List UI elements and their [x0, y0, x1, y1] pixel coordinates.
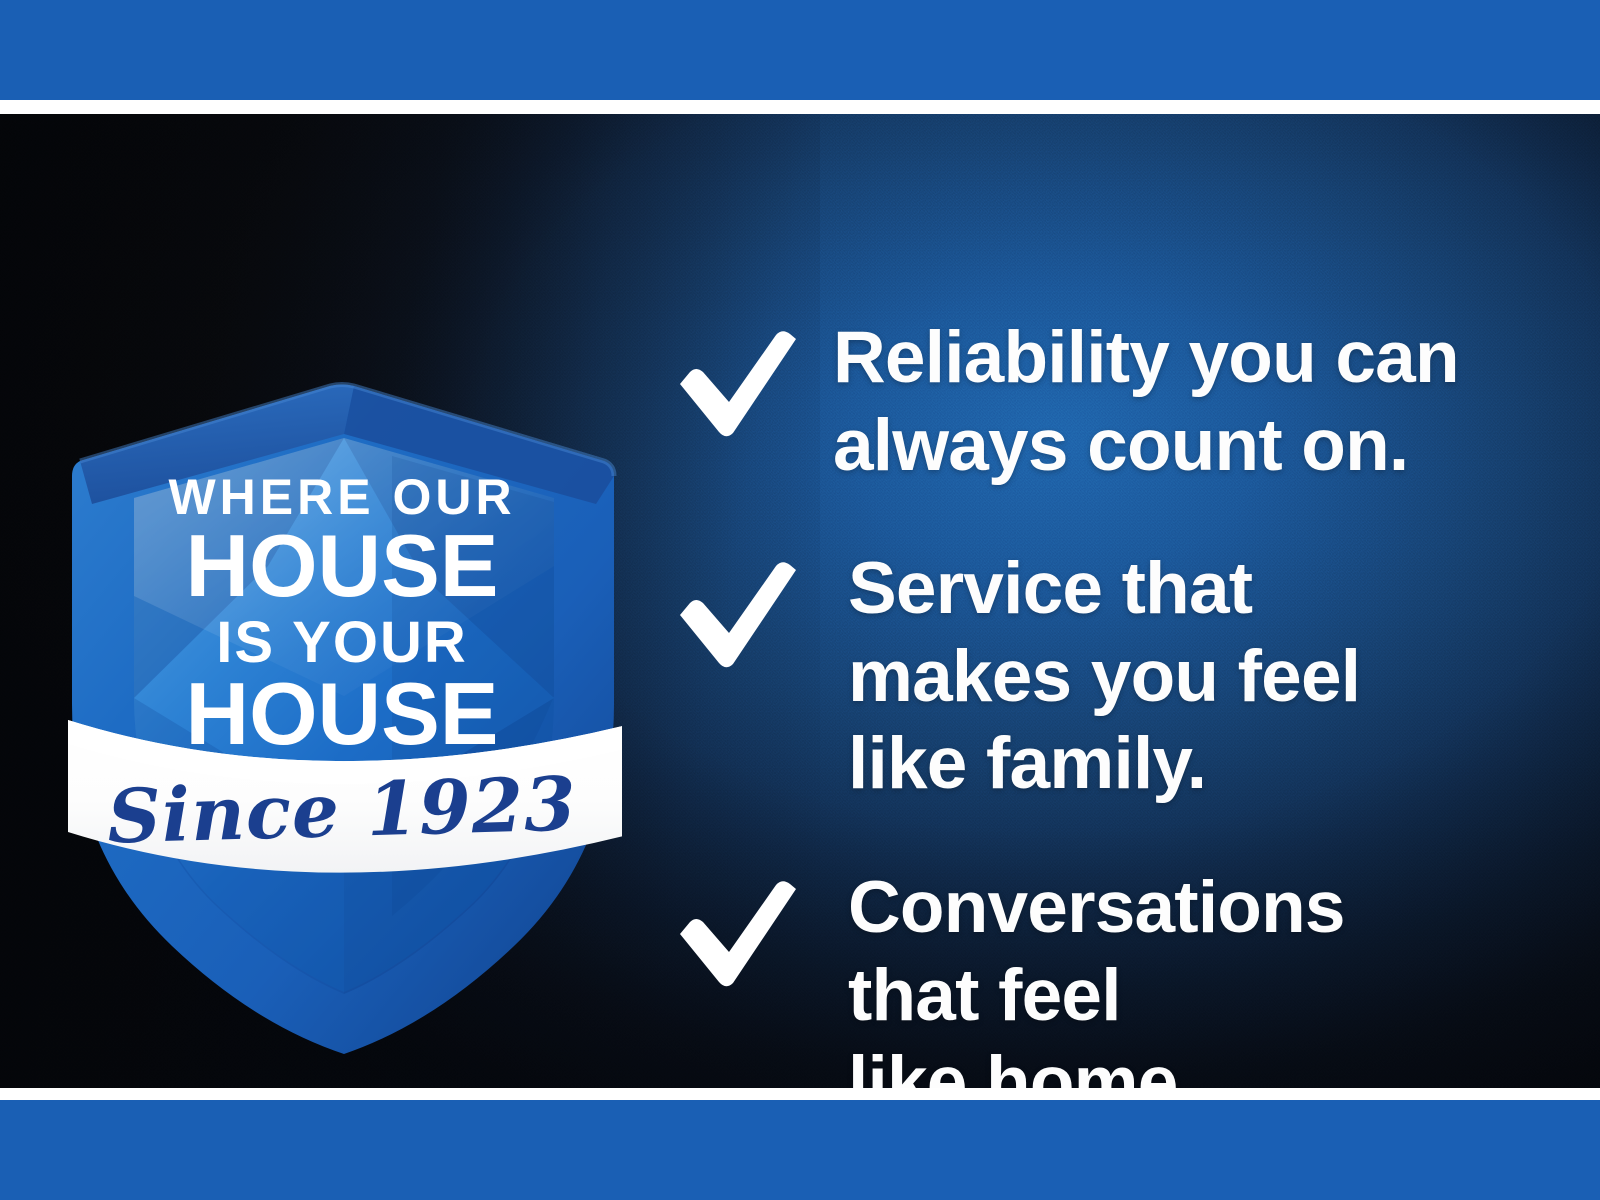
shield-icon — [62, 266, 622, 1056]
list-item: Service that makes you feel like family. — [672, 545, 1552, 808]
promo-banner: Where Our House Is Your House Since 1923… — [0, 0, 1600, 1200]
benefits-list: Reliability you can always count on. Ser… — [672, 314, 1552, 1088]
list-item: Conversations that feel like home. — [672, 864, 1552, 1088]
top-brand-bar — [0, 0, 1600, 100]
shield-logo: Where Our House Is Your House Since 1923 — [62, 266, 622, 1056]
content-stage: Where Our House Is Your House Since 1923… — [0, 114, 1600, 1088]
checkmark-icon — [672, 878, 798, 990]
checkmark-icon — [672, 328, 798, 440]
benefit-text: Conversations that feel like home. — [672, 864, 1552, 1088]
benefit-text: Reliability you can always count on. — [672, 314, 1552, 489]
benefit-text: Service that makes you feel like family. — [672, 545, 1552, 808]
list-item: Reliability you can always count on. — [672, 314, 1552, 489]
checkmark-icon — [672, 559, 798, 671]
bottom-brand-bar — [0, 1100, 1600, 1200]
